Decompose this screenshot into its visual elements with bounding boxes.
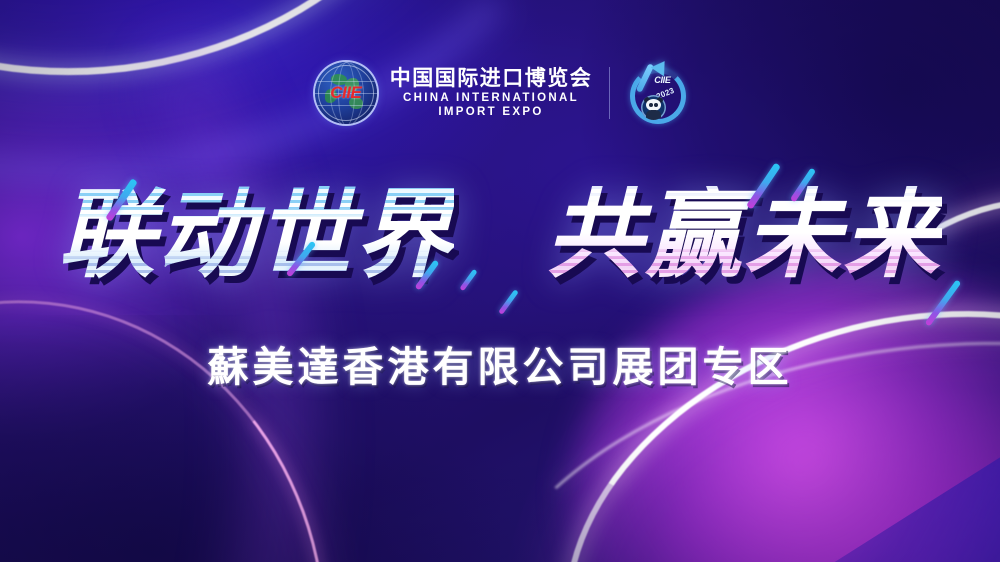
logo-title-english-line2: IMPORT EXPO [438,107,543,119]
ciie-sixth-edition-emblem-icon: CIIE 2023 [627,62,685,124]
ciie-promotional-banner: CIIE 中国国际进口博览会 CHINA INTERNATIONAL IMPOR… [0,0,1000,562]
subtitle-block: 蘇美達香港有限公司展团专区 [0,333,1000,393]
emblem-wordmark: CIIE [654,75,670,85]
logo-divider [609,67,610,119]
logo-title-english-line1: CHINA INTERNATIONAL [403,93,579,105]
subtitle-text: 蘇美達香港有限公司展团专区 [208,333,793,393]
ciie-globe-icon: CIIE [315,62,377,124]
logo-title-chinese: 中国国际进口博览会 [390,68,593,89]
globe-wordmark: CIIE [315,83,377,103]
ciie-wordmark: 中国国际进口博览会 CHINA INTERNATIONAL IMPORT EXP… [390,68,593,119]
ciie-logo-lockup: CIIE 中国国际进口博览会 CHINA INTERNATIONAL IMPOR… [0,62,1000,124]
